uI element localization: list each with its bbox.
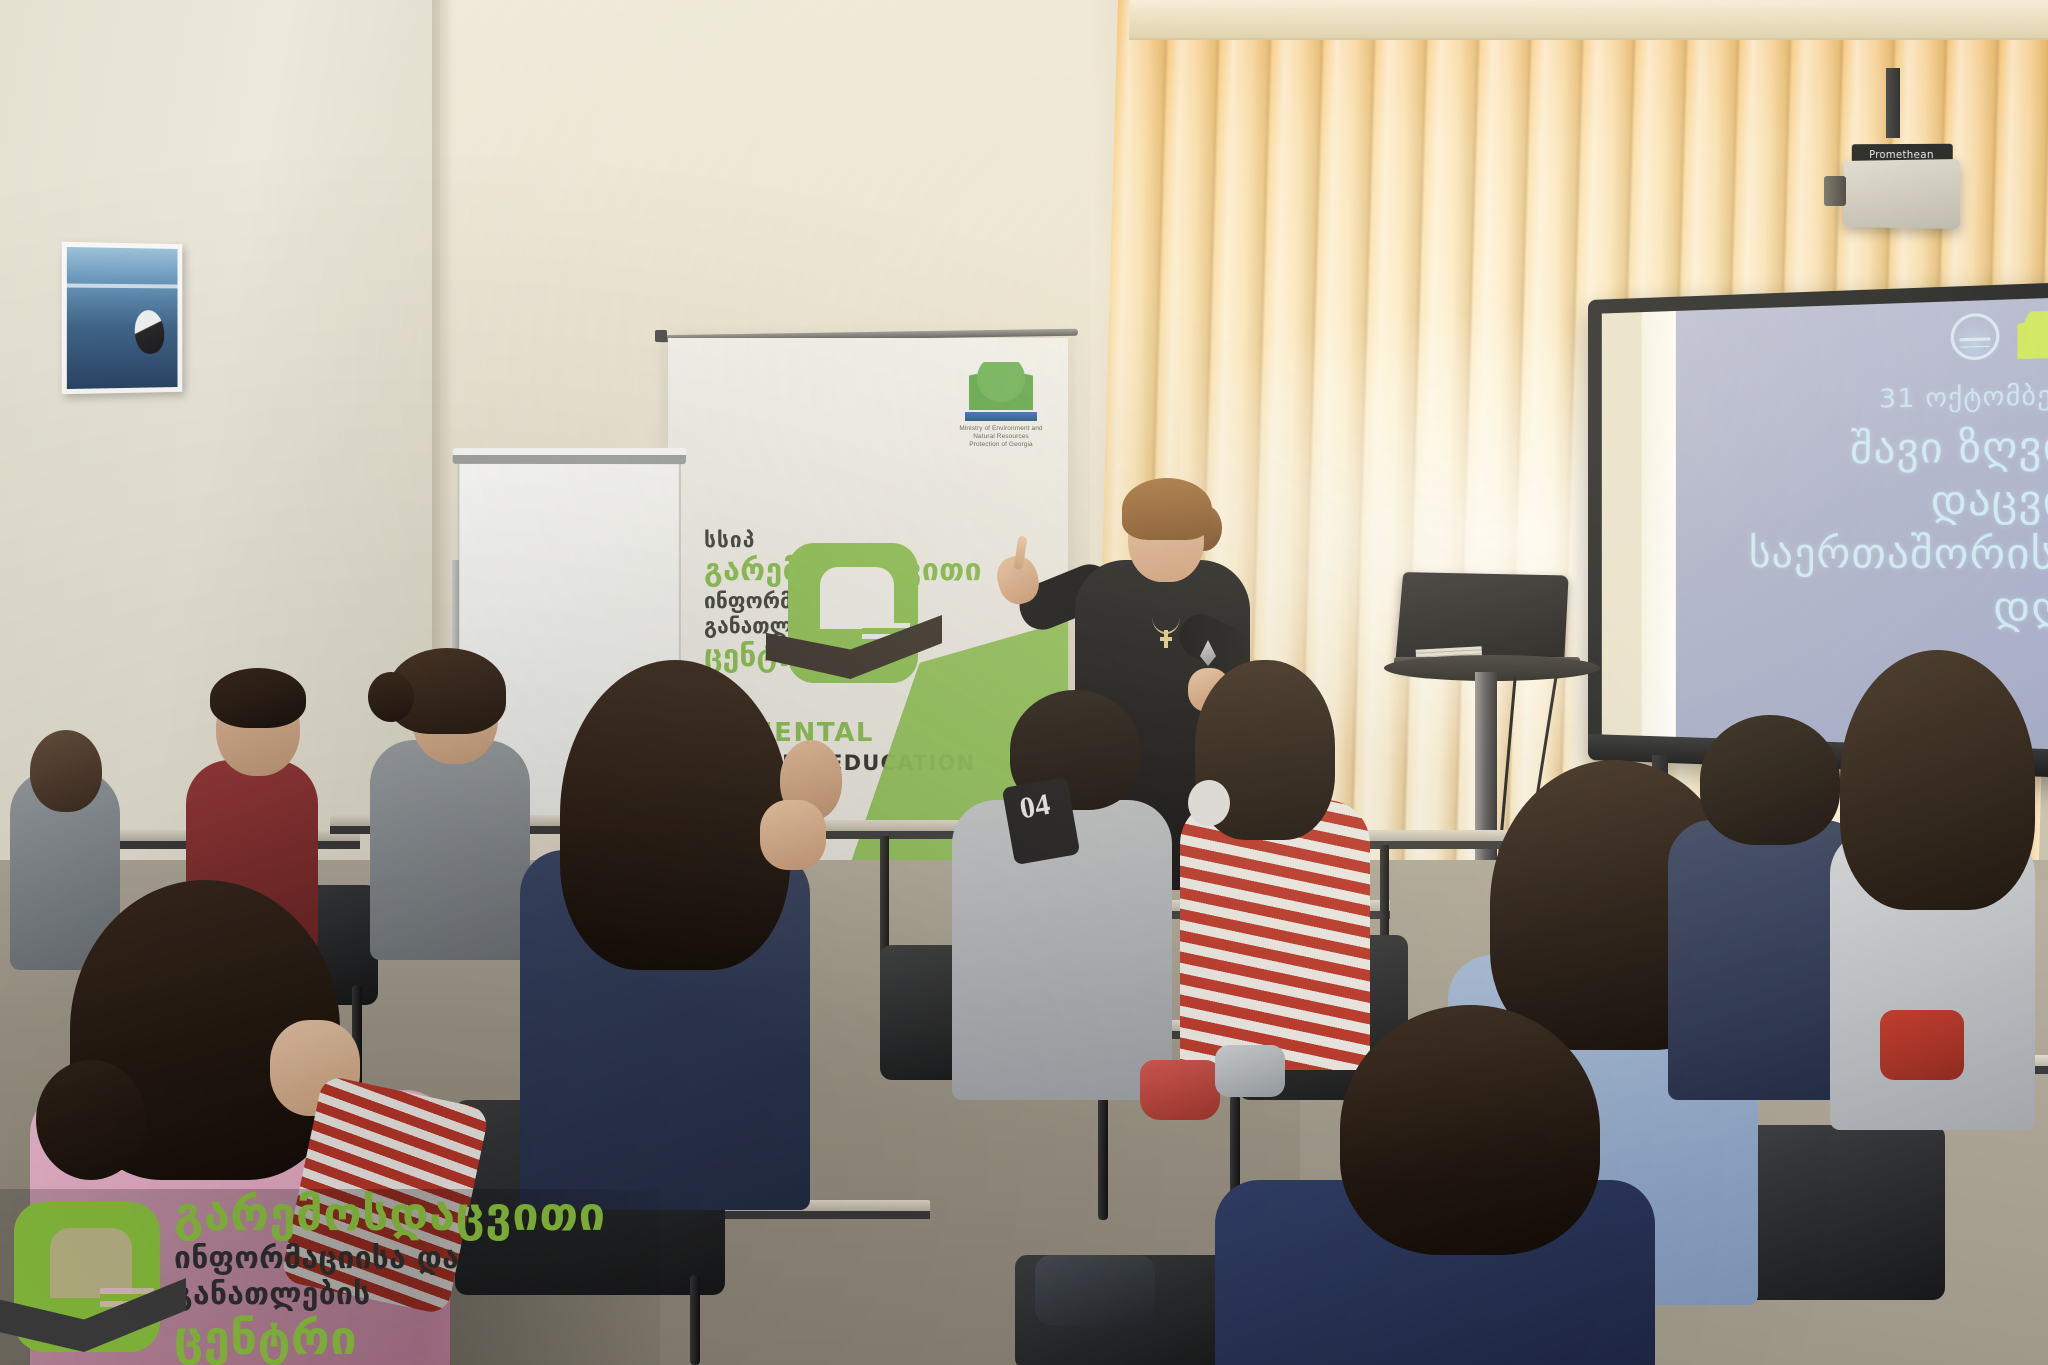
banner-logo-notch bbox=[820, 567, 894, 629]
slide-line-1: შავი ზღვის bbox=[1686, 420, 2048, 477]
student-hair bbox=[1700, 715, 1840, 845]
presenter-hair bbox=[1122, 478, 1212, 540]
slide-logo-row bbox=[1951, 310, 2048, 361]
banner-logo-mark bbox=[788, 543, 918, 683]
student-hair bbox=[560, 660, 790, 970]
banner-rod-cap bbox=[655, 330, 667, 342]
projector-body bbox=[1843, 159, 1960, 229]
slide-line-2: დაცვის bbox=[1686, 474, 2048, 528]
student-shoe bbox=[1140, 1060, 1220, 1120]
blinds-rail bbox=[1129, 0, 2048, 40]
student-shoe bbox=[1215, 1045, 1285, 1097]
presenter-necklace bbox=[1152, 600, 1180, 634]
student-hair bbox=[1340, 1005, 1600, 1255]
watermark-mark bbox=[14, 1202, 160, 1352]
student-hand bbox=[760, 800, 826, 870]
watermark-line-3: ცენტრი bbox=[174, 1313, 660, 1365]
framed-photo bbox=[62, 242, 183, 394]
watermark-logo: გარემოსდაცვითი ინფორმაციისა და განათლები… bbox=[0, 1189, 660, 1365]
flipchart-rail bbox=[453, 448, 686, 464]
framed-photo-horizon bbox=[67, 284, 178, 289]
slide-line-3: საერთაშორისო bbox=[1686, 528, 2048, 582]
ministry-tree-icon bbox=[969, 362, 1033, 410]
student-hair-bun bbox=[36, 1060, 146, 1180]
classroom-photo-scene: Ministry of Environment and Natural Reso… bbox=[0, 0, 2048, 1365]
watermark-line-2: ინფორმაციისა და განათლების bbox=[174, 1241, 660, 1313]
slide-text-block: 31 ოქტომბერი შავი ზღვის დაცვის საერთაშორ… bbox=[1686, 377, 2048, 636]
ministry-water-icon bbox=[965, 412, 1037, 421]
framed-photo-image bbox=[67, 247, 178, 389]
cross-pendant-icon bbox=[1160, 630, 1172, 648]
slide-date: 31 ოქტომბერი bbox=[1686, 377, 2048, 421]
projector-mount-arm bbox=[1886, 68, 1900, 138]
ministry-logo: Ministry of Environment and Natural Reso… bbox=[958, 362, 1044, 449]
slide-line-4: დღე bbox=[1686, 579, 2048, 636]
student-hair bbox=[210, 668, 306, 728]
student-torso bbox=[370, 740, 530, 960]
chair-back bbox=[1745, 1125, 1945, 1300]
whiteboard-white-edge bbox=[1642, 311, 1678, 737]
ministry-logo-caption: Ministry of Environment and Natural Reso… bbox=[958, 425, 1044, 449]
watermark-text: გარემოსდაცვითი ინფორმაციისა და განათლები… bbox=[174, 1189, 660, 1365]
student-hair bbox=[1840, 650, 2035, 910]
student-head bbox=[30, 730, 102, 812]
student-torso bbox=[1180, 800, 1370, 1070]
podium-column bbox=[1475, 672, 1497, 887]
student-shoe bbox=[1035, 1255, 1155, 1325]
water-circle-icon bbox=[1951, 313, 2000, 361]
chair-frame bbox=[690, 1275, 700, 1365]
green-tree-icon bbox=[2017, 310, 2048, 359]
hoodie-number: 04 bbox=[1017, 788, 1052, 827]
watermark-line-1: გარემოსდაცვითი bbox=[174, 1189, 660, 1241]
red-bag bbox=[1880, 1010, 1964, 1080]
projector-lens bbox=[1824, 176, 1846, 206]
student-hair-bun bbox=[368, 672, 414, 722]
hair-tie bbox=[1188, 780, 1230, 826]
